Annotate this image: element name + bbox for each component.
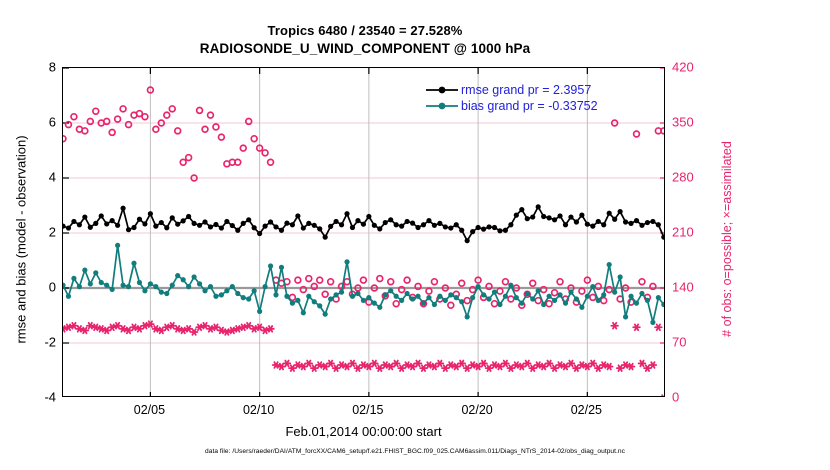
x-tick-02-10: 02/10	[243, 403, 274, 417]
x-tick-02-15: 02/15	[352, 403, 383, 417]
x-axis-label: Feb.01,2014 00:00:00 start	[62, 424, 665, 439]
y-tick-right-420: 420	[672, 60, 694, 75]
y-tick-right-210: 210	[672, 225, 694, 240]
y-tick-left--2: -2	[44, 335, 56, 350]
y-tick-left-8: 8	[49, 60, 56, 75]
y-axis-right-ticks: 070140210280350420	[672, 67, 718, 397]
legend-marker-rmse-icon	[425, 83, 459, 97]
x-tick-02-05: 02/05	[134, 403, 165, 417]
chart-title: Tropics 6480 / 23540 = 27.528% RADIOSOND…	[0, 22, 730, 58]
y-tick-right-140: 140	[672, 280, 694, 295]
data-file-footer: data file: /Users/raeder/DAI/ATM_forcXX/…	[0, 448, 830, 455]
y-tick-right-280: 280	[672, 170, 694, 185]
plot-canvas	[63, 68, 664, 396]
y-axis-right-label: # of obs: o=possible; ×=assimilated	[720, 89, 734, 389]
x-tick-02-25: 02/25	[571, 403, 602, 417]
y-tick-left-6: 6	[49, 115, 56, 130]
legend-label-rmse: rmse grand pr = 2.3957	[461, 83, 591, 97]
chart-legend: rmse grand pr = 2.3957 bias grand pr = -…	[425, 82, 598, 114]
y-tick-right-70: 70	[672, 335, 686, 350]
y-tick-left-4: 4	[49, 170, 56, 185]
title-line-1: Tropics 6480 / 23540 = 27.528%	[0, 22, 730, 40]
x-tick-02-20: 02/20	[461, 403, 492, 417]
legend-item-rmse: rmse grand pr = 2.3957	[425, 82, 598, 98]
plot-page: Tropics 6480 / 23540 = 27.528% RADIOSOND…	[0, 0, 830, 470]
y-tick-right-350: 350	[672, 115, 694, 130]
y-tick-left--4: -4	[44, 390, 56, 405]
legend-marker-bias-icon	[425, 99, 459, 113]
title-line-2: RADIOSONDE_U_WIND_COMPONENT @ 1000 hPa	[0, 40, 730, 58]
y-tick-left-0: 0	[49, 280, 56, 295]
legend-item-bias: bias grand pr = -0.33752	[425, 98, 598, 114]
y-axis-left-label: rmse and bias (model - observation)	[14, 90, 29, 390]
y-tick-right-0: 0	[672, 390, 679, 405]
legend-label-bias: bias grand pr = -0.33752	[461, 99, 598, 113]
plot-area	[62, 67, 665, 397]
data-series-layer	[63, 68, 664, 396]
y-tick-left-2: 2	[49, 225, 56, 240]
